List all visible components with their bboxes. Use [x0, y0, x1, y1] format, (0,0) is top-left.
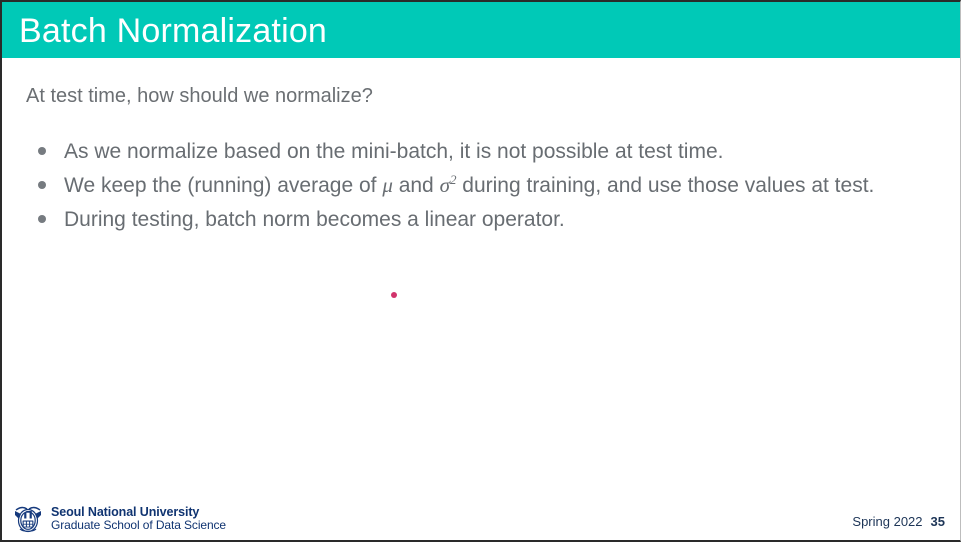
- bullet-point-icon: [30, 135, 64, 155]
- slide-title-bar: Batch Normalization: [2, 2, 961, 58]
- slide-canvas: Batch Normalization At test time, how sh…: [0, 0, 961, 542]
- list-item-text: During testing, batch norm becomes a lin…: [64, 203, 940, 236]
- footer-term-label: Spring 2022: [852, 514, 922, 529]
- brand-primary-line: Seoul National University: [51, 506, 226, 520]
- lead-question: At test time, how should we normalize?: [26, 82, 373, 110]
- list-item-text: We keep the (running) average of μ and σ…: [64, 169, 940, 202]
- mu-symbol: μ: [382, 173, 393, 197]
- stray-dot-marker: [391, 292, 397, 298]
- bullet-3-text: During testing, batch norm becomes a lin…: [64, 208, 565, 231]
- bullet-point-icon: [30, 169, 64, 189]
- bullet-point-icon: [30, 203, 64, 223]
- snu-crest-icon: [11, 502, 45, 536]
- list-item: As we normalize based on the mini-batch,…: [30, 135, 940, 168]
- slide-page-number: 35: [931, 514, 945, 529]
- bullet-list: As we normalize based on the mini-batch,…: [30, 135, 940, 237]
- sigma-glyph: σ: [440, 173, 450, 197]
- sigma-symbol: σ2: [440, 173, 457, 197]
- list-item: We keep the (running) average of μ and σ…: [30, 169, 940, 202]
- footer-meta: Spring 202235: [852, 514, 945, 529]
- list-item-text: As we normalize based on the mini-batch,…: [64, 135, 940, 168]
- bullet-2-mid: and: [393, 174, 440, 197]
- brand-secondary-line: Graduate School of Data Science: [51, 519, 226, 532]
- bullet-1-text: As we normalize based on the mini-batch,…: [64, 140, 723, 163]
- slide-title: Batch Normalization: [19, 9, 327, 53]
- list-item: During testing, batch norm becomes a lin…: [30, 203, 940, 236]
- footer-brand: Seoul National University Graduate Schoo…: [11, 502, 226, 536]
- bullet-2-prefix: We keep the (running) average of: [64, 174, 382, 197]
- bullet-2-suffix: during training, and use those values at…: [456, 174, 874, 197]
- brand-text-block: Seoul National University Graduate Schoo…: [51, 506, 226, 532]
